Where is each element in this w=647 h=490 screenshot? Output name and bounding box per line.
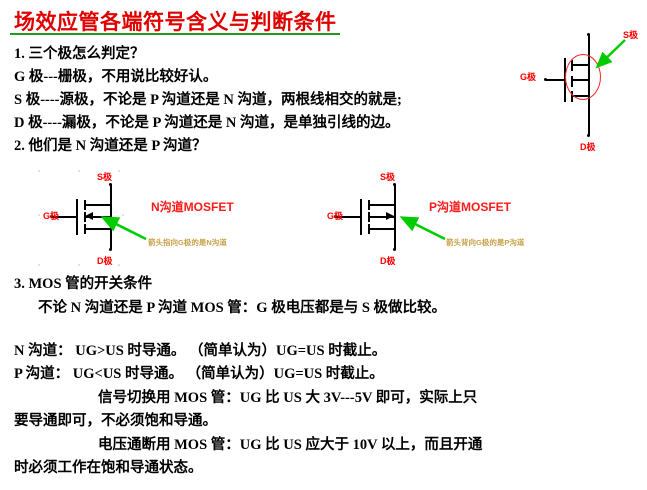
text-line-7: 不论 N 沟道还是 P 沟道 MOS 管：G 极电压都是与 S 极做比较。 [38,301,446,316]
text-line-13: 时必须工作在饱和导通状态。 [14,461,203,476]
title-underline-rule [10,33,340,35]
caption-p-channel: P沟道MOSFET [429,198,511,215]
text-line-2: G 极---栅极，不用说比较好认。 [14,70,217,85]
annotation-arrow-n [34,166,314,274]
text-line-9: P 沟道： UG<US 时导通。 （简单认为）UG=US 时截止。 [14,367,384,382]
source-pointer-arrow [540,24,647,154]
label-source-top: S极 [623,28,638,41]
caption-n-channel: N沟道MOSFET [151,198,234,215]
text-line-3: S 极----源极，不论是 P 沟道还是 N 沟道，两根线相交的就是; [14,93,402,108]
note-n-channel: 箭头指向G极的是N沟道 [148,237,227,248]
mosfet-symbol-top: S极 G极 D极 [540,24,647,154]
annotation-arrow-p [318,166,608,274]
label-drain-top: D极 [580,140,596,153]
text-line-1: 1. 三个极怎么判定？ [14,47,145,62]
slide-canvas: 场效应管各端符号含义与判断条件 1. 三个极怎么判定？ G 极---栅极，不用说… [0,0,647,490]
p-channel-mosfet: S极 G极 D极 P沟道MOSFET 箭头背向G [318,166,608,274]
n-channel-mosfet: S极 G极 D极 [34,166,314,274]
text-line-6: 3. MOS 管的开关条件 [14,277,152,292]
text-line-5: 2. 他们是 N 沟道还是 P 沟道？ [14,139,207,154]
text-line-4: D 极----漏极，不论是 P 沟道还是 N 沟道，是单独引线的边。 [14,116,399,131]
text-line-12: 电压通断用 MOS 管：UG 比 US 应大于 10V 以上，而且开通 [98,438,482,453]
text-line-11: 要导通即可，不必须饱和导通。 [14,414,217,429]
label-gate-top: G极 [520,70,536,83]
page-title: 场效应管各端符号含义与判断条件 [14,6,337,36]
note-p-channel: 箭头背向G极的是P沟道 [446,237,524,248]
text-line-10: 信号切换用 MOS 管：UG 比 US 大 3V---5V 即可，实际上只 [98,391,477,406]
text-line-8: N 沟道： UG>US 时导通。 （简单认为）UG=US 时截止。 [14,344,386,359]
